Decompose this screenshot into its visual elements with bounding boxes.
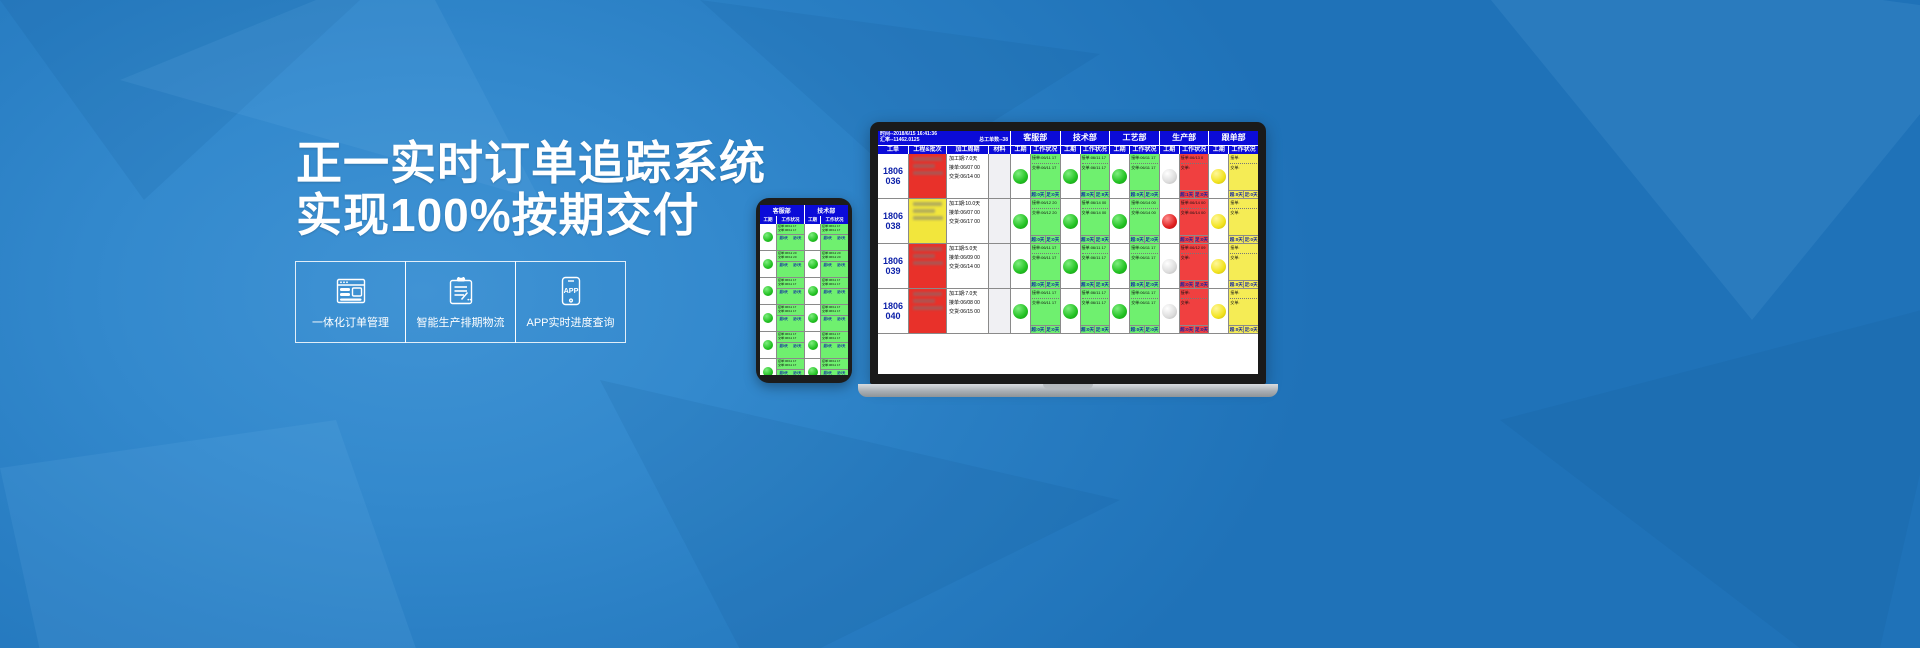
erp-cell-duration bbox=[1060, 244, 1080, 288]
phone-cell-status: 接单:06/11 17交单:06/11 17超0天足0天 bbox=[820, 305, 848, 331]
erp-cell-duration bbox=[1010, 244, 1030, 288]
status-delivered: 交单: bbox=[1230, 256, 1257, 261]
phone-dept-header: 客服部 bbox=[760, 205, 804, 216]
status-full: 足:0天 bbox=[1194, 236, 1209, 243]
erp-rate: 汇率--11462.0125 bbox=[880, 138, 919, 144]
cycle-line: 接单:06/07 00 bbox=[949, 166, 986, 172]
status-dot-green bbox=[808, 232, 818, 242]
cycle-line: 交货:06/17 00 bbox=[949, 220, 986, 226]
erp-cell-status: 接单:交单:超:0天足:0天 bbox=[1228, 289, 1258, 333]
workorder-suffix: 036 bbox=[885, 176, 900, 186]
workorder-suffix: 038 bbox=[885, 221, 900, 231]
status-dot-yellow bbox=[1211, 259, 1226, 274]
status-full: 足:0天 bbox=[1045, 281, 1060, 288]
erp-col-duration: 工期 bbox=[1060, 146, 1080, 155]
status-full: 足:0天 bbox=[1144, 326, 1159, 333]
status-delivered: 交单:06/11 17 bbox=[1032, 301, 1059, 306]
status-received: 接单:06/12 09 bbox=[1181, 246, 1208, 251]
status-over: 超:0天 bbox=[1031, 191, 1045, 198]
phone-cell-duration bbox=[760, 359, 776, 375]
status-full: 足:0天 bbox=[1243, 191, 1258, 198]
status-delivered: 交单: bbox=[1230, 166, 1257, 171]
status-dot-green bbox=[808, 367, 818, 375]
mobile-app-icon: APP bbox=[560, 274, 582, 308]
erp-table-body: 1806036加工期:7.0天接单:06/07 00交货:06/14 00接单:… bbox=[878, 154, 1258, 334]
erp-cell-material bbox=[988, 289, 1010, 333]
erp-cell-status: 接单:06/11 17交单:06/11 17超:0天足:0天 bbox=[1030, 289, 1060, 333]
status-received: 接单: bbox=[1181, 291, 1208, 296]
erp-dept-header: 技术部 bbox=[1060, 131, 1110, 145]
phone-col-status: 工作状况 bbox=[820, 216, 848, 224]
erp-dept-header: 生产部 bbox=[1159, 131, 1209, 145]
phone-table-body: 接单:06/11 17交单:06/11 17超0天足0天接单:06/11 17交… bbox=[760, 224, 848, 375]
status-full: 足:0天 bbox=[1045, 236, 1060, 243]
erp-cell-status: 接单:06/11 17交单:06/11 17超:0天足:0天 bbox=[1080, 244, 1110, 288]
status-dot-green bbox=[1063, 259, 1078, 274]
status-delivered: 交单:06/11 17 bbox=[1032, 256, 1059, 261]
erp-cell-status: 接单:06/11 17交单:06/11 17超:0天足:0天 bbox=[1129, 244, 1159, 288]
erp-table-row[interactable]: 1806036加工期:7.0天接单:06/07 00交货:06/14 00接单:… bbox=[878, 154, 1258, 199]
erp-cell-status: 接单:06/14 00交单:06/14 00超:0天足:0天 bbox=[1179, 199, 1209, 243]
erp-cell-status: 接单:06/14 00交单:06/14 00超:0天足:0天 bbox=[1129, 199, 1159, 243]
erp-cell-status: 接单:06/11 17交单:06/11 17超:0天足:0天 bbox=[1080, 154, 1110, 198]
workorder-prefix: 1806 bbox=[883, 256, 903, 266]
status-dot-yellow bbox=[1211, 169, 1226, 184]
erp-cell-duration bbox=[1208, 289, 1228, 333]
erp-cell-workorder: 1806038 bbox=[878, 199, 908, 243]
status-over: 超:0天 bbox=[1130, 326, 1144, 333]
status-dot-green bbox=[1013, 169, 1028, 184]
phone-table-row[interactable]: 接单:06/11 17交单:06/11 17超0天足0天接单:06/11 17交… bbox=[760, 359, 848, 375]
headline-line-1: 正一实时订单追踪系统 bbox=[296, 137, 766, 189]
status-over: 超:0天 bbox=[1180, 236, 1194, 243]
status-delivered: 交单: bbox=[1181, 256, 1208, 261]
cycle-line: 加工期:7.0天 bbox=[949, 157, 986, 163]
status-delivered: 交单: bbox=[1230, 211, 1257, 216]
cycle-line: 接单:06/08 00 bbox=[949, 301, 986, 307]
erp-cell-duration bbox=[1208, 154, 1228, 198]
feature-order-management[interactable]: 一体化订单管理 bbox=[295, 261, 406, 343]
status-delivered: 交单:06/11 17 bbox=[1032, 166, 1059, 171]
erp-cell-status: 接单:06/11 17交单:06/11 17超:0天足:0天 bbox=[1129, 289, 1159, 333]
phone-cell-status: 接单:06/12 20交单:06/12 20超0天足0天 bbox=[776, 251, 804, 277]
status-over: 超:0天 bbox=[1229, 236, 1243, 243]
phone-notch bbox=[789, 200, 819, 204]
feature-label: 一体化订单管理 bbox=[312, 314, 389, 330]
status-received: 接单:06/11 17 bbox=[1131, 291, 1158, 296]
cycle-line: 交货:06/15 00 bbox=[949, 310, 986, 316]
background-polygon bbox=[1500, 300, 1920, 648]
status-delivered: 交单: bbox=[1181, 301, 1208, 306]
erp-meta: 时间--2018/6/15 16:41:36 汇率--11462.0125 总工… bbox=[878, 131, 1010, 145]
erp-cell-cycle: 加工期:5.0天接单:06/09 00交货:06/14 00 bbox=[946, 244, 988, 288]
status-full: 足:0天 bbox=[1194, 281, 1209, 288]
cycle-line: 交货:06/14 00 bbox=[949, 265, 986, 271]
status-received: 接单:06/12 20 bbox=[1032, 201, 1059, 206]
status-over: 超:0天 bbox=[1130, 236, 1144, 243]
status-delivered: 交单:06/14 00 bbox=[1181, 211, 1208, 216]
status-received: 接单:06/13 0 bbox=[1181, 156, 1208, 161]
status-dot-green bbox=[763, 259, 773, 269]
erp-col-status: 工作状况 bbox=[1080, 146, 1110, 155]
phone-cell-status: 接单:06/12 20交单:06/12 20超0天足0天 bbox=[820, 251, 848, 277]
erp-cell-duration bbox=[1010, 289, 1030, 333]
phone-cell-duration bbox=[804, 305, 820, 331]
erp-cell-status: 接单:06/12 09交单:超:0天足:0天 bbox=[1179, 244, 1209, 288]
erp-cell-material bbox=[988, 154, 1010, 198]
laptop-lid: 时间--2018/6/15 16:41:36 汇率--11462.0125 总工… bbox=[870, 122, 1266, 384]
status-full: 足:0天 bbox=[1094, 191, 1109, 198]
status-dot-yellow bbox=[1211, 304, 1226, 319]
erp-cell-duration bbox=[1159, 244, 1179, 288]
feature-label: 智能生产排期物流 bbox=[417, 314, 505, 330]
erp-cell-status: 接单:交单:超:0天足:0天 bbox=[1179, 289, 1209, 333]
erp-col-status: 工作状况 bbox=[1129, 146, 1159, 155]
phone-subheader-row: 工期 工作状况 工期 工作状况 bbox=[760, 216, 848, 224]
erp-cell-duration bbox=[1060, 199, 1080, 243]
background-polygon bbox=[0, 420, 420, 648]
status-over: 超:0天 bbox=[1081, 281, 1095, 288]
status-full: 足:0天 bbox=[1243, 326, 1258, 333]
status-received: 接单: bbox=[1230, 201, 1257, 206]
status-dot-green bbox=[1063, 304, 1078, 319]
status-over: 超:0天 bbox=[1081, 326, 1095, 333]
status-delivered: 交单:06/11 17 bbox=[1082, 301, 1109, 306]
svg-text:APP: APP bbox=[563, 286, 578, 295]
status-dot-green bbox=[808, 340, 818, 350]
headline: 正一实时订单追踪系统 实现100%按期交付 bbox=[296, 137, 766, 241]
erp-cell-duration bbox=[1109, 154, 1129, 198]
status-full: 足:0天 bbox=[1243, 236, 1258, 243]
status-full: 足:0天 bbox=[1094, 281, 1109, 288]
status-full: 足:0天 bbox=[1094, 236, 1109, 243]
phone-department-header-row: 客服部 技术部 bbox=[760, 205, 848, 216]
clipboard-schedule-icon bbox=[448, 274, 474, 308]
phone-cell-status: 接单:06/11 17交单:06/11 17超0天足0天 bbox=[776, 332, 804, 358]
status-full: 足:0天 bbox=[1045, 191, 1060, 198]
status-delivered: 交单: bbox=[1181, 166, 1208, 171]
phone-cell-status: 接单:06/11 17交单:06/11 17超0天足0天 bbox=[820, 278, 848, 304]
smartphone-mockup: 客服部 技术部 工期 工作状况 工期 工作状况 接单:06/11 17交单:06… bbox=[756, 198, 852, 383]
erp-cell-duration bbox=[1060, 289, 1080, 333]
erp-table-row[interactable]: 1806040加工期:7.0天接单:06/08 00交货:06/15 00接单:… bbox=[878, 289, 1258, 334]
phone-table-row[interactable]: 接单:06/11 17交单:06/11 17超0天足0天接单:06/11 17交… bbox=[760, 278, 848, 305]
status-dot-green bbox=[1013, 214, 1028, 229]
feature-app-progress-query[interactable]: APP APP实时进度查询 bbox=[515, 261, 626, 343]
status-dot-green bbox=[1013, 259, 1028, 274]
erp-dept-header: 工艺部 bbox=[1109, 131, 1159, 145]
status-dot-green bbox=[1013, 304, 1028, 319]
erp-table-row[interactable]: 1806038加工期:10.0天接单:06/07 00交货:06/17 00接单… bbox=[878, 199, 1258, 244]
erp-cell-duration bbox=[1208, 244, 1228, 288]
erp-cell-workorder: 1806040 bbox=[878, 289, 908, 333]
status-over: 超:0天 bbox=[1180, 326, 1194, 333]
phone-cell-duration bbox=[760, 224, 776, 250]
erp-cell-status: 接单:06/14 00交单:06/14 00超:0天足:0天 bbox=[1080, 199, 1110, 243]
promo-banner: 正一实时订单追踪系统 实现100%按期交付 一体化订单管理 bbox=[0, 0, 1920, 648]
status-delivered: 交单:06/11 17 bbox=[1131, 301, 1158, 306]
status-dot-green bbox=[763, 313, 773, 323]
erp-col-material: 材料 bbox=[988, 146, 1010, 155]
status-full: 足:0天 bbox=[1194, 326, 1209, 333]
status-received: 接单:06/11 17 bbox=[1082, 246, 1109, 251]
erp-cell-status: 接单:06/11 17交单:06/11 17超:0天足:0天 bbox=[1129, 154, 1159, 198]
background-polygon bbox=[1380, 0, 1920, 320]
status-delivered: 交单:06/11 17 bbox=[1082, 166, 1109, 171]
erp-cell-cycle: 加工期:7.0天接单:06/07 00交货:06/14 00 bbox=[946, 154, 988, 198]
workorder-prefix: 1806 bbox=[883, 301, 903, 311]
status-dot-green bbox=[1112, 304, 1127, 319]
status-delivered: 交单:06/11 17 bbox=[1131, 256, 1158, 261]
erp-cell-duration bbox=[1208, 199, 1228, 243]
status-full: 足:0天 bbox=[1045, 326, 1060, 333]
cycle-line: 加工期:10.0天 bbox=[949, 202, 986, 208]
cycle-line: 交货:06/14 00 bbox=[949, 175, 986, 181]
status-dot-green bbox=[1063, 169, 1078, 184]
status-dot-green bbox=[763, 286, 773, 296]
status-dot-green bbox=[763, 232, 773, 242]
erp-dashboard: 时间--2018/6/15 16:41:36 汇率--11462.0125 总工… bbox=[878, 131, 1258, 374]
status-over: 超:0天 bbox=[1130, 281, 1144, 288]
status-over: 超:0天 bbox=[1081, 191, 1095, 198]
status-dot-green bbox=[808, 259, 818, 269]
status-dot-red bbox=[1162, 214, 1177, 229]
phone-table-row[interactable]: 接单:06/11 17交单:06/11 17超0天足0天接单:06/11 17交… bbox=[760, 224, 848, 251]
background-polygon bbox=[600, 380, 1120, 648]
erp-cell-status: 接单:交单:超:0天足:0天 bbox=[1228, 154, 1258, 198]
erp-col-cycle: 加工周期 bbox=[946, 146, 988, 155]
phone-screen: 客服部 技术部 工期 工作状况 工期 工作状况 接单:06/11 17交单:06… bbox=[760, 205, 848, 375]
phone-col-status: 工作状况 bbox=[776, 216, 804, 224]
erp-cell-status: 接单:06/12 20交单:06/12 20超:0天足:0天 bbox=[1030, 199, 1060, 243]
status-over: 超:0天 bbox=[1031, 236, 1045, 243]
erp-cell-project bbox=[908, 289, 946, 333]
status-over: 超:0天 bbox=[1180, 281, 1194, 288]
laptop-mockup: 时间--2018/6/15 16:41:36 汇率--11462.0125 总工… bbox=[858, 122, 1328, 417]
feature-label: APP实时进度查询 bbox=[526, 314, 614, 330]
status-over: 超:0天 bbox=[1081, 236, 1095, 243]
cycle-line: 接单:06/07 00 bbox=[949, 211, 986, 217]
phone-table-row[interactable]: 接单:06/12 20交单:06/12 20超0天足0天接单:06/12 20交… bbox=[760, 251, 848, 278]
erp-col-status: 工作状况 bbox=[1179, 146, 1209, 155]
feature-list: 一体化订单管理 智能生产排期物流 bbox=[296, 261, 626, 343]
status-received: 接单:06/11 17 bbox=[1082, 291, 1109, 296]
phone-cell-duration bbox=[760, 332, 776, 358]
erp-dept-header: 跟单部 bbox=[1208, 131, 1258, 145]
erp-cell-duration bbox=[1060, 154, 1080, 198]
erp-cell-duration bbox=[1010, 199, 1030, 243]
status-received: 接单: bbox=[1230, 246, 1257, 251]
erp-total-orders: 总工单数--38 bbox=[979, 138, 1008, 144]
status-dot-yellow bbox=[1211, 214, 1226, 229]
status-full: 足:0天 bbox=[1194, 191, 1209, 198]
erp-cell-status: 接单:交单:超:0天足:0天 bbox=[1228, 199, 1258, 243]
workorder-suffix: 040 bbox=[885, 311, 900, 321]
status-delivered: 交单:06/11 17 bbox=[1131, 166, 1158, 171]
phone-cell-status: 接单:06/11 17交单:06/11 17超0天足0天 bbox=[776, 359, 804, 375]
erp-cell-status: 接单:交单:超:0天足:0天 bbox=[1228, 244, 1258, 288]
erp-col-duration: 工期 bbox=[1010, 146, 1030, 155]
status-over: 超:0天 bbox=[1229, 326, 1243, 333]
status-full: 足:0天 bbox=[1144, 236, 1159, 243]
status-dot-grey bbox=[1162, 259, 1177, 274]
erp-cell-project bbox=[908, 154, 946, 198]
status-received: 接单: bbox=[1230, 156, 1257, 161]
phone-cell-duration bbox=[760, 278, 776, 304]
status-delivered: 交单:06/14 00 bbox=[1131, 211, 1158, 216]
status-received: 接单:06/11 17 bbox=[1032, 291, 1059, 296]
erp-col-duration: 工期 bbox=[1159, 146, 1179, 155]
status-dot-green bbox=[808, 286, 818, 296]
erp-cell-project bbox=[908, 244, 946, 288]
phone-cell-duration bbox=[804, 359, 820, 375]
phone-cell-status: 接单:06/11 17交单:06/11 17超0天足0天 bbox=[820, 224, 848, 250]
status-received: 接单:06/14 00 bbox=[1181, 201, 1208, 206]
status-full: 足:0天 bbox=[1144, 281, 1159, 288]
status-over: 超:0天 bbox=[1229, 191, 1243, 198]
status-full: 足:0天 bbox=[1094, 326, 1109, 333]
status-delivered: 交单:06/14 00 bbox=[1082, 211, 1109, 216]
phone-cell-duration bbox=[760, 305, 776, 331]
erp-cell-status: 接单:06/13 0交单:超:1天足:0天 bbox=[1179, 154, 1209, 198]
status-delivered: 交单: bbox=[1230, 301, 1257, 306]
erp-cell-status: 接单:06/11 17交单:06/11 17超:0天足:0天 bbox=[1080, 289, 1110, 333]
status-dot-green bbox=[1112, 214, 1127, 229]
erp-cell-project bbox=[908, 199, 946, 243]
status-full: 足:0天 bbox=[1243, 281, 1258, 288]
status-dot-grey bbox=[1162, 169, 1177, 184]
workorder-prefix: 1806 bbox=[883, 211, 903, 221]
status-dot-green bbox=[808, 313, 818, 323]
status-dot-green bbox=[763, 340, 773, 350]
phone-table-row[interactable]: 接单:06/11 17交单:06/11 17超0天足0天接单:06/11 17交… bbox=[760, 305, 848, 332]
erp-department-headers: 客服部 技术部 工艺部 生产部 跟单部 bbox=[1010, 131, 1258, 145]
status-dot-grey bbox=[1162, 304, 1177, 319]
erp-column-headers: 工单 工程&批次 加工周期 材料 工期 工作状况 工期 工作状况 工期 工作状况… bbox=[878, 146, 1258, 155]
status-received: 接单:06/11 17 bbox=[1082, 156, 1109, 161]
erp-cell-duration bbox=[1159, 289, 1179, 333]
erp-cell-duration bbox=[1109, 244, 1129, 288]
status-received: 接单:06/11 17 bbox=[1032, 246, 1059, 251]
status-over: 超:0天 bbox=[1229, 281, 1243, 288]
phone-cell-status: 接单:06/11 17交单:06/11 17超0天足0天 bbox=[776, 305, 804, 331]
erp-cell-duration bbox=[1109, 289, 1129, 333]
workorder-suffix: 039 bbox=[885, 266, 900, 276]
erp-col-duration: 工期 bbox=[1208, 146, 1228, 155]
erp-cell-status: 接单:06/11 17交单:06/11 17超:0天足:0天 bbox=[1030, 154, 1060, 198]
status-dot-green bbox=[763, 367, 773, 375]
erp-cell-duration bbox=[1159, 154, 1179, 198]
erp-col-status: 工作状况 bbox=[1228, 146, 1258, 155]
phone-cell-duration bbox=[804, 224, 820, 250]
status-dot-green bbox=[1112, 169, 1127, 184]
workorder-prefix: 1806 bbox=[883, 166, 903, 176]
status-dot-green bbox=[1063, 214, 1078, 229]
phone-cell-duration bbox=[760, 251, 776, 277]
erp-cell-material bbox=[988, 244, 1010, 288]
phone-dept-header: 技术部 bbox=[804, 205, 849, 216]
erp-col-project: 工程&批次 bbox=[908, 146, 946, 155]
feature-production-scheduling[interactable]: 智能生产排期物流 bbox=[405, 261, 516, 343]
erp-cell-workorder: 1806039 bbox=[878, 244, 908, 288]
laptop-trackpad-notch bbox=[1043, 384, 1093, 389]
headline-line-2: 实现100%按期交付 bbox=[296, 189, 766, 241]
cycle-line: 加工期:5.0天 bbox=[949, 247, 986, 253]
erp-dept-header: 客服部 bbox=[1010, 131, 1060, 145]
erp-cell-workorder: 1806036 bbox=[878, 154, 908, 198]
status-received: 接单:06/14 00 bbox=[1131, 201, 1158, 206]
status-over: 超:0天 bbox=[1130, 191, 1144, 198]
phone-col-duration: 工期 bbox=[804, 216, 820, 224]
status-received: 接单:06/11 17 bbox=[1131, 246, 1158, 251]
status-received: 接单: bbox=[1230, 291, 1257, 296]
erp-header-bar: 时间--2018/6/15 16:41:36 汇率--11462.0125 总工… bbox=[878, 131, 1258, 146]
phone-cell-status: 接单:06/11 17交单:06/11 17超0天足0天 bbox=[776, 224, 804, 250]
dashboard-layout-icon bbox=[336, 274, 366, 308]
status-full: 足:0天 bbox=[1144, 191, 1159, 198]
erp-cell-duration bbox=[1109, 199, 1129, 243]
cycle-line: 加工期:7.0天 bbox=[949, 292, 986, 298]
phone-cell-status: 接单:06/11 17交单:06/11 17超0天足0天 bbox=[776, 278, 804, 304]
status-received: 接单:06/14 00 bbox=[1082, 201, 1109, 206]
erp-col-status: 工作状况 bbox=[1030, 146, 1060, 155]
erp-table-row[interactable]: 1806039加工期:5.0天接单:06/09 00交货:06/14 00接单:… bbox=[878, 244, 1258, 289]
erp-cell-cycle: 加工期:7.0天接单:06/08 00交货:06/15 00 bbox=[946, 289, 988, 333]
laptop-screen: 时间--2018/6/15 16:41:36 汇率--11462.0125 总工… bbox=[878, 131, 1258, 374]
status-dot-green bbox=[1112, 259, 1127, 274]
cycle-line: 接单:06/09 00 bbox=[949, 256, 986, 262]
erp-cell-material bbox=[988, 199, 1010, 243]
phone-cell-status: 接单:06/11 17交单:06/11 17超0天足0天 bbox=[820, 332, 848, 358]
phone-table-row[interactable]: 接单:06/11 17交单:06/11 17超0天足0天接单:06/11 17交… bbox=[760, 332, 848, 359]
erp-cell-status: 接单:06/11 17交单:06/11 17超:0天足:0天 bbox=[1030, 244, 1060, 288]
status-over: 超:0天 bbox=[1031, 326, 1045, 333]
erp-col-duration: 工期 bbox=[1109, 146, 1129, 155]
erp-cell-duration bbox=[1159, 199, 1179, 243]
status-received: 接单:06/11 17 bbox=[1131, 156, 1158, 161]
phone-cell-duration bbox=[804, 251, 820, 277]
phone-cell-duration bbox=[804, 278, 820, 304]
phone-col-duration: 工期 bbox=[760, 216, 776, 224]
phone-cell-duration bbox=[804, 332, 820, 358]
status-delivered: 交单:06/12 20 bbox=[1032, 211, 1059, 216]
status-received: 接单:06/11 17 bbox=[1032, 156, 1059, 161]
status-over: 超:0天 bbox=[1031, 281, 1045, 288]
erp-cell-cycle: 加工期:10.0天接单:06/07 00交货:06/17 00 bbox=[946, 199, 988, 243]
erp-cell-duration bbox=[1010, 154, 1030, 198]
status-delivered: 交单:06/11 17 bbox=[1082, 256, 1109, 261]
status-over: 超:1天 bbox=[1180, 191, 1194, 198]
phone-erp-table: 客服部 技术部 工期 工作状况 工期 工作状况 接单:06/11 17交单:06… bbox=[760, 205, 848, 375]
phone-cell-status: 接单:06/11 17交单:06/11 17超0天足0天 bbox=[820, 359, 848, 375]
phone-body: 客服部 技术部 工期 工作状况 工期 工作状况 接单:06/11 17交单:06… bbox=[756, 198, 852, 383]
erp-col-workorder: 工单 bbox=[878, 146, 908, 155]
